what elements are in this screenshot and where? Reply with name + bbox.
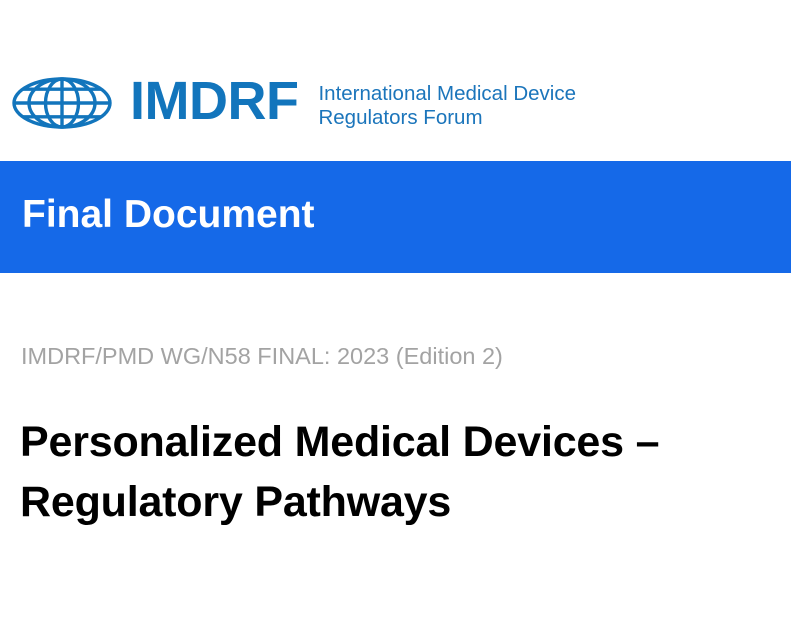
imdrf-logo-lockup: IMDRF International Medical Device Regul… (12, 76, 576, 130)
tagline-line-1: International Medical Device (318, 82, 576, 106)
imdrf-tagline: International Medical Device Regulators … (318, 82, 576, 130)
masthead: IMDRF International Medical Device Regul… (0, 0, 791, 161)
final-document-banner: Final Document (0, 161, 791, 273)
banner-label: Final Document (22, 191, 315, 239)
document-title: Personalized Medical Devices – Regulator… (20, 412, 780, 532)
document-number: IMDRF/PMD WG/N58 FINAL: 2023 (Edition 2) (21, 342, 503, 370)
document-cover-page: IMDRF International Medical Device Regul… (0, 0, 791, 643)
document-title-line-1: Personalized Medical Devices – (20, 412, 780, 472)
globe-icon (12, 77, 112, 129)
imdrf-wordmark: IMDRF (130, 74, 298, 128)
document-title-line-2: Regulatory Pathways (20, 472, 780, 532)
tagline-line-2: Regulators Forum (318, 106, 576, 130)
